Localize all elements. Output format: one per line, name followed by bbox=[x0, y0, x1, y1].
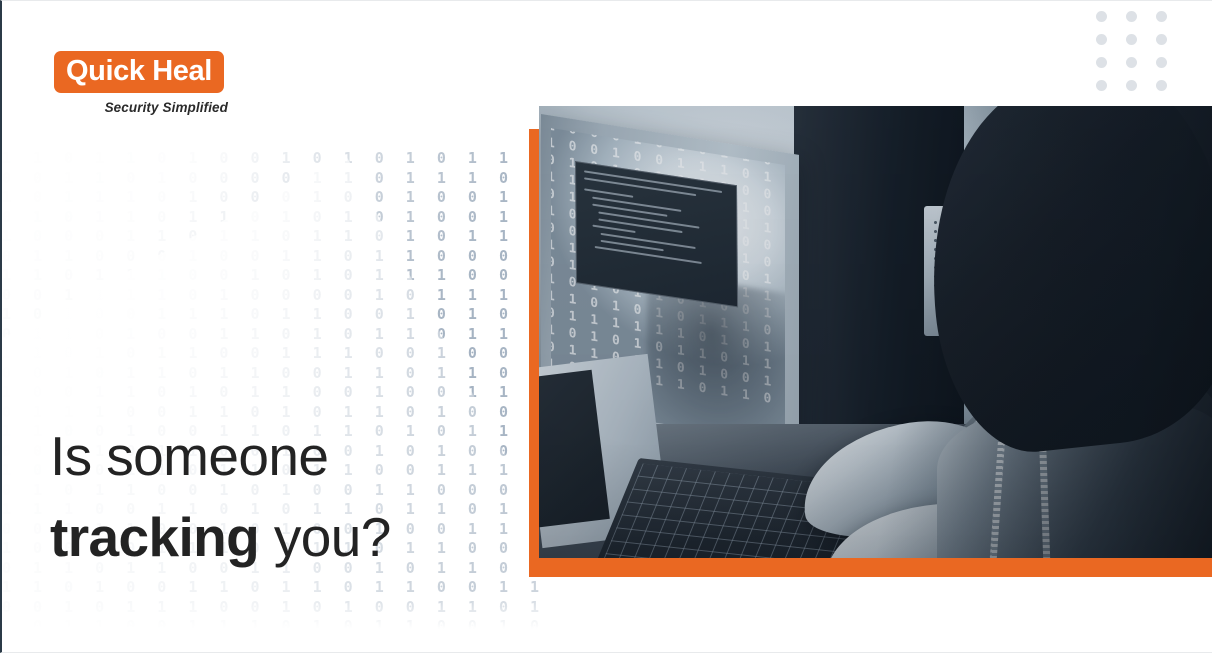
grid-dot bbox=[1126, 34, 1137, 45]
logo-wordmark: Quick Heal bbox=[66, 56, 212, 86]
binary-row: 1 1 0 1 0 1 1 0 0 1 1 1 0 0 1 0 0 1 0 1 … bbox=[2, 344, 562, 364]
grid-dot bbox=[1156, 34, 1167, 45]
grid-dot bbox=[1126, 57, 1137, 68]
binary-row: 1 1 0 1 1 1 0 0 1 0 1 0 1 1 1 0 0 1 1 0 … bbox=[2, 266, 562, 286]
binary-row: 0 0 1 1 0 1 0 0 0 0 1 1 0 1 1 1 0 1 0 1 … bbox=[2, 169, 562, 189]
binary-row: 0 1 1 0 0 0 1 0 0 1 1 0 1 1 0 0 0 0 1 0 … bbox=[2, 247, 562, 267]
headline-line-1: Is someone bbox=[50, 416, 520, 497]
binary-row: 0 0 1 0 1 1 1 0 0 1 0 1 0 0 1 1 0 1 1 0 … bbox=[2, 598, 562, 618]
grid-dot bbox=[1096, 11, 1107, 22]
grid-dot bbox=[1156, 57, 1167, 68]
grid-dot bbox=[1156, 11, 1167, 22]
binary-row: 1 0 1 1 0 0 1 1 1 0 1 0 1 1 0 0 1 0 0 1 … bbox=[2, 617, 562, 631]
binary-row: 0 0 1 0 1 1 0 1 1 0 0 1 1 0 1 1 0 1 1 0 … bbox=[2, 364, 562, 384]
grid-dot bbox=[1126, 80, 1137, 91]
photo-vignette bbox=[539, 106, 1212, 558]
binary-row: 0 1 0 1 1 0 1 1 0 1 0 1 0 1 0 0 1 0 1 1 … bbox=[2, 208, 562, 228]
logo-badge: Quick Heal bbox=[54, 51, 224, 93]
dot-grid-decoration bbox=[1096, 11, 1186, 103]
binary-row: 0 1 1 0 1 0 0 1 1 0 1 0 1 1 0 1 1 0 1 0 … bbox=[2, 325, 562, 345]
headline: Is someone tracking you? bbox=[50, 416, 520, 578]
grid-dot bbox=[1126, 11, 1137, 22]
binary-row: 1 0 1 1 1 0 1 0 0 0 1 0 0 1 0 0 1 1 0 1 … bbox=[2, 188, 562, 208]
brand-logo: Quick Heal Security Simplified bbox=[54, 51, 230, 115]
headline-emphasis: tracking bbox=[50, 506, 259, 568]
headline-line-2-rest: you? bbox=[259, 506, 391, 568]
binary-row: 1 0 0 1 1 0 1 0 1 1 0 0 1 0 0 1 1 0 0 1 … bbox=[2, 383, 562, 403]
marketing-banner: 1 0 1 0 0 1 1 0 1 0 1 0 1 0 1 1 1 1 0 1 … bbox=[0, 0, 1212, 653]
diagonal-light-streak bbox=[0, 155, 609, 653]
headline-line-2: tracking you? bbox=[50, 497, 520, 578]
logo-tagline: Security Simplified bbox=[54, 100, 230, 115]
hero-photo: 1 0 0 0 1 0 1 0 1 1 0 0 1 0 1 0 11 0 0 1… bbox=[539, 106, 1212, 558]
binary-row: 1 0 1 0 0 1 1 1 0 1 1 0 0 1 0 1 0 1 1 0 … bbox=[2, 305, 562, 325]
binary-row: 1 0 0 0 1 1 0 1 1 0 1 1 0 1 0 1 1 0 0 0 … bbox=[2, 227, 562, 247]
background-bottom-fade bbox=[2, 594, 542, 652]
grid-dot bbox=[1096, 57, 1107, 68]
binary-row: 0 1 1 0 1 0 1 1 0 0 1 1 0 1 0 0 0 1 0 0 … bbox=[2, 130, 562, 150]
grid-dot bbox=[1096, 34, 1107, 45]
binary-row: 0 0 1 1 1 1 0 1 0 0 0 0 1 0 1 1 1 0 0 1 … bbox=[2, 286, 562, 306]
grid-dot bbox=[1096, 80, 1107, 91]
grid-dot bbox=[1156, 80, 1167, 91]
binary-row: 1 1 0 1 1 0 1 0 0 1 0 1 0 1 0 1 1 0 1 0 … bbox=[2, 149, 562, 169]
binary-row: 1 1 0 1 0 0 1 1 0 1 1 0 1 1 0 0 1 1 0 0 … bbox=[2, 578, 562, 598]
